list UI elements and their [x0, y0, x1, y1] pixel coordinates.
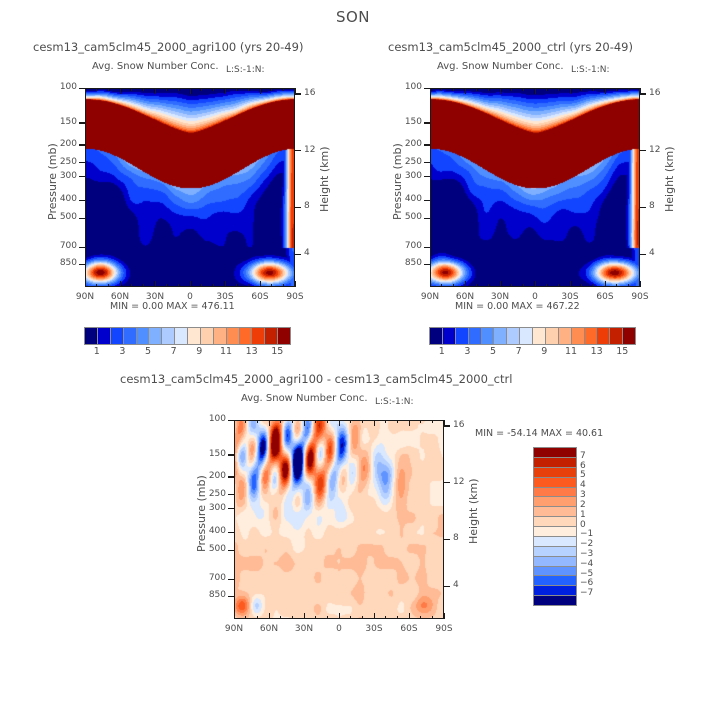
colorbar-cell [468, 328, 481, 344]
y-tick-label: 200 [398, 139, 422, 149]
y-tick-label: 150 [53, 117, 77, 127]
panel-diff-ylabel: Pressure (mb) [195, 475, 208, 552]
x-minor-tick-mark [236, 88, 237, 91]
colorbar-cell [534, 556, 576, 566]
y-tick-label: 700 [398, 241, 422, 251]
y-tick-mark [424, 218, 430, 219]
panel-diff-subtitle-right: L:S:-1:N: [375, 397, 414, 407]
x-minor-tick-mark [476, 284, 477, 287]
x-tick-label: 90S [626, 292, 654, 302]
x-tick-mark [500, 281, 501, 287]
y-tick-label: 100 [53, 82, 77, 92]
y-tick-mark [424, 122, 430, 123]
x-tick-mark [465, 281, 466, 287]
colorbar-cell [455, 328, 468, 344]
y2-tick-mark [295, 254, 301, 255]
panel-right-title: cesm13_cam5clm45_2000_ctrl (yrs 20-49) [388, 40, 633, 54]
colorbar-cell [534, 448, 576, 457]
y-tick-mark [424, 264, 430, 265]
colorbar-tick-label: 1 [437, 346, 447, 357]
colorbar-tick-label: 13 [246, 346, 256, 357]
y-tick-mark [228, 476, 234, 477]
y-tick-mark [79, 176, 85, 177]
x-tick-mark [260, 88, 261, 94]
x-minor-tick-mark [593, 284, 594, 287]
x-minor-tick-mark [108, 88, 109, 91]
x-minor-tick-mark [350, 420, 351, 423]
colorbar-tick-label: −3 [580, 549, 593, 559]
x-minor-tick-mark [257, 420, 258, 423]
x-tick-mark [409, 420, 410, 426]
colorbar-tick-label: 11 [220, 346, 230, 357]
colorbar-cell [532, 328, 545, 344]
colorbar-cell [136, 328, 149, 344]
panel-left-minmax: MIN = 0.00 MAX = 476.11 [110, 301, 235, 312]
panel-diff-title: cesm13_cam5clm45_2000_agri100 - cesm13_c… [120, 372, 512, 386]
x-tick-mark [295, 88, 296, 94]
x-tick-mark [570, 281, 571, 287]
x-minor-tick-mark [257, 616, 258, 619]
colorbar-cell [534, 526, 576, 536]
x-tick-label: 60N [255, 624, 283, 634]
x-tick-mark [85, 88, 86, 94]
x-tick-label: 30S [556, 292, 584, 302]
x-minor-tick-mark [397, 420, 398, 423]
x-minor-tick-mark [178, 88, 179, 91]
x-tick-label: 60S [591, 292, 619, 302]
colorbar-tick-label: 3 [580, 490, 586, 500]
colorbar-tick-label: −5 [580, 569, 593, 579]
x-tick-label: 60S [395, 624, 423, 634]
x-minor-tick-mark [523, 284, 524, 287]
x-tick-mark [155, 88, 156, 94]
x-tick-mark [120, 88, 121, 94]
y-tick-label: 150 [202, 449, 226, 459]
y-tick-label: 850 [398, 258, 422, 268]
colorbar-right[interactable] [429, 327, 636, 345]
x-minor-tick-mark [385, 420, 386, 423]
y-tick-mark [79, 162, 85, 163]
colorbar-cell [430, 328, 442, 344]
colorbar-tick-label: −6 [580, 578, 593, 588]
y-tick-mark [79, 264, 85, 265]
colorbar-tick-label: 5 [143, 346, 153, 357]
x-minor-tick-mark [350, 616, 351, 619]
y-tick-label: 200 [53, 139, 77, 149]
panel-diff-subtitle: Avg. Snow Number Conc. [241, 393, 368, 404]
x-minor-tick-mark [143, 88, 144, 91]
x-tick-mark [444, 420, 445, 426]
y-tick-mark [228, 454, 234, 455]
x-tick-mark [190, 88, 191, 94]
colorbar-cell [481, 328, 494, 344]
x-minor-tick-mark [432, 420, 433, 423]
panel-right-minmax: MIN = 0.00 MAX = 467.22 [455, 301, 580, 312]
panel-left-title: cesm13_cam5clm45_2000_agri100 (yrs 20-49… [33, 40, 303, 54]
y-tick-label: 700 [202, 573, 226, 583]
x-minor-tick-mark [248, 88, 249, 91]
panel-diff-minmax: MIN = -54.14 MAX = 40.61 [475, 428, 603, 439]
y2-tick-label: 16 [453, 420, 464, 430]
y-tick-label: 200 [202, 471, 226, 481]
x-minor-tick-mark [385, 616, 386, 619]
y2-tick-mark [295, 207, 301, 208]
colorbar-cell [519, 328, 532, 344]
x-minor-tick-mark [236, 284, 237, 287]
colorbar-cell [534, 575, 576, 585]
y2-tick-label: 4 [453, 580, 459, 590]
x-minor-tick-mark [488, 88, 489, 91]
x-minor-tick-mark [327, 420, 328, 423]
y-tick-label: 250 [202, 489, 226, 499]
y2-tick-label: 12 [649, 145, 660, 155]
panel-left-contour-canvas [86, 89, 295, 287]
colorbar-tick-label: 1 [580, 510, 586, 520]
x-minor-tick-mark [178, 284, 179, 287]
colorbar-tick-label: 3 [117, 346, 127, 357]
x-tick-label: 30N [486, 292, 514, 302]
x-tick-label: 60N [451, 292, 479, 302]
figure-suptitle: SON [0, 8, 706, 26]
colorbar-cell [534, 546, 576, 556]
x-tick-mark [374, 613, 375, 619]
y-tick-mark [79, 200, 85, 201]
colorbar-tick-label: 0 [580, 520, 586, 530]
y-tick-mark [79, 122, 85, 123]
colorbar-tick-label: 3 [462, 346, 472, 357]
x-tick-mark [260, 281, 261, 287]
y-tick-label: 250 [398, 157, 422, 167]
colorbar-cell [97, 328, 110, 344]
y-tick-mark [228, 596, 234, 597]
colorbar-tick-label: 13 [591, 346, 601, 357]
x-tick-mark [535, 88, 536, 94]
x-tick-mark [374, 420, 375, 426]
x-minor-tick-mark [616, 284, 617, 287]
colorbar-tick-label: 6 [580, 461, 586, 471]
panel-diff-contour-canvas [235, 421, 444, 619]
x-minor-tick-mark [546, 284, 547, 287]
x-tick-label: 0 [176, 292, 204, 302]
y-tick-label: 100 [202, 414, 226, 424]
x-minor-tick-mark [245, 420, 246, 423]
x-minor-tick-mark [201, 88, 202, 91]
x-minor-tick-mark [96, 284, 97, 287]
y-tick-mark [228, 579, 234, 580]
x-minor-tick-mark [362, 420, 363, 423]
x-minor-tick-mark [581, 88, 582, 91]
x-tick-mark [605, 281, 606, 287]
y-tick-mark [228, 494, 234, 495]
y-tick-mark [228, 532, 234, 533]
colorbar-tick-label: −7 [580, 588, 593, 598]
colorbar-tick-label: 9 [194, 346, 204, 357]
x-tick-mark [570, 88, 571, 94]
x-tick-label: 90N [416, 292, 444, 302]
x-tick-mark [85, 281, 86, 287]
colorbar-cell [148, 328, 161, 344]
x-tick-label: 90S [430, 624, 458, 634]
colorbar-tick-label: −1 [580, 529, 593, 539]
y-tick-mark [79, 218, 85, 219]
x-minor-tick-mark [245, 616, 246, 619]
x-minor-tick-mark [558, 284, 559, 287]
x-tick-mark [500, 88, 501, 94]
x-minor-tick-mark [546, 88, 547, 91]
x-minor-tick-mark [432, 616, 433, 619]
x-tick-mark [605, 88, 606, 94]
colorbar-tick-label: 9 [539, 346, 549, 357]
x-minor-tick-mark [453, 88, 454, 91]
x-tick-mark [225, 88, 226, 94]
colorbar-tick-label: 5 [580, 470, 586, 480]
x-tick-mark [430, 281, 431, 287]
colorbar-cell [534, 477, 576, 487]
colorbar-cell [213, 328, 226, 344]
x-minor-tick-mark [283, 88, 284, 91]
colorbar-cell [277, 328, 290, 344]
colorbar-cell [110, 328, 123, 344]
colorbar-tick-label: 5 [488, 346, 498, 357]
x-tick-mark [640, 281, 641, 287]
x-tick-label: 90S [281, 292, 309, 302]
y-tick-label: 500 [202, 544, 226, 554]
colorbar-cell [85, 328, 97, 344]
panel-right-plot [430, 88, 640, 287]
x-minor-tick-mark [488, 284, 489, 287]
x-minor-tick-mark [166, 284, 167, 287]
y2-tick-label: 8 [649, 201, 655, 211]
colorbar-cell [609, 328, 622, 344]
colorbar-diff[interactable] [533, 447, 577, 606]
y2-tick-mark [640, 150, 646, 151]
y-tick-mark [424, 200, 430, 201]
y-tick-label: 150 [398, 117, 422, 127]
y-tick-label: 500 [398, 212, 422, 222]
y2-tick-label: 8 [453, 533, 459, 543]
panel-right-ylabel: Pressure (mb) [391, 143, 404, 220]
colorbar-cell [534, 467, 576, 477]
x-tick-label: 30N [290, 624, 318, 634]
colorbar-cell [161, 328, 174, 344]
x-minor-tick-mark [441, 88, 442, 91]
y2-tick-mark [444, 482, 450, 483]
y2-tick-mark [295, 93, 301, 94]
panel-left-subtitle: Avg. Snow Number Conc. [92, 61, 219, 72]
x-tick-mark [339, 420, 340, 426]
x-minor-tick-mark [315, 616, 316, 619]
y2-tick-label: 4 [304, 248, 310, 258]
colorbar-cell [442, 328, 455, 344]
x-minor-tick-mark [283, 284, 284, 287]
y-tick-mark [79, 144, 85, 145]
x-minor-tick-mark [511, 284, 512, 287]
panel-diff-ylabel-right: Height (km) [467, 478, 480, 544]
y-tick-label: 300 [398, 171, 422, 181]
x-minor-tick-mark [213, 88, 214, 91]
colorbar-tick-label: 4 [580, 480, 586, 490]
y2-tick-label: 4 [649, 248, 655, 258]
x-tick-mark [269, 420, 270, 426]
colorbar-cell [584, 328, 597, 344]
panel-right-subtitle: Avg. Snow Number Conc. [437, 61, 564, 72]
x-tick-label: 0 [325, 624, 353, 634]
x-tick-mark [409, 613, 410, 619]
colorbar-tick-label: 15 [271, 346, 281, 357]
x-minor-tick-mark [213, 284, 214, 287]
x-tick-label: 0 [521, 292, 549, 302]
colorbar-tick-label: 1 [92, 346, 102, 357]
x-minor-tick-mark [397, 616, 398, 619]
x-minor-tick-mark [476, 88, 477, 91]
x-minor-tick-mark [271, 88, 272, 91]
x-minor-tick-mark [511, 88, 512, 91]
colorbar-tick-label: 7 [514, 346, 524, 357]
x-tick-mark [269, 613, 270, 619]
colorbar-cell [596, 328, 609, 344]
y-tick-mark [424, 247, 430, 248]
colorbar-cell [622, 328, 635, 344]
y-tick-label: 300 [202, 503, 226, 513]
panel-right-contour-canvas [431, 89, 640, 287]
colorbar-cell [558, 328, 571, 344]
y2-tick-label: 12 [453, 477, 464, 487]
y-tick-label: 400 [398, 194, 422, 204]
panel-right-subtitle-right: L:S:-1:N: [571, 65, 610, 75]
colorbar-tick-label: 15 [616, 346, 626, 357]
x-minor-tick-mark [453, 284, 454, 287]
colorbar-cell [174, 328, 187, 344]
x-tick-mark [225, 281, 226, 287]
x-tick-mark [535, 281, 536, 287]
colorbar-cell [200, 328, 213, 344]
x-minor-tick-mark [292, 616, 293, 619]
y-tick-mark [424, 144, 430, 145]
x-tick-label: 90N [220, 624, 248, 634]
x-minor-tick-mark [315, 420, 316, 423]
y-tick-label: 500 [53, 212, 77, 222]
colorbar-cell [493, 328, 506, 344]
colorbar-cell [123, 328, 136, 344]
y2-tick-mark [640, 254, 646, 255]
colorbar-cell [506, 328, 519, 344]
x-minor-tick-mark [581, 284, 582, 287]
y2-tick-mark [444, 539, 450, 540]
colorbar-cell [239, 328, 252, 344]
panel-right-ylabel-right: Height (km) [663, 146, 676, 212]
x-minor-tick-mark [201, 284, 202, 287]
x-tick-mark [304, 613, 305, 619]
x-tick-mark [234, 420, 235, 426]
colorbar-cell [226, 328, 239, 344]
y-tick-label: 100 [398, 82, 422, 92]
colorbar-tick-label: 7 [580, 451, 586, 461]
x-tick-mark [295, 281, 296, 287]
x-minor-tick-mark [523, 88, 524, 91]
y2-tick-label: 16 [304, 88, 315, 98]
y-tick-mark [424, 176, 430, 177]
x-tick-label: 90N [71, 292, 99, 302]
panel-left-plot [85, 88, 295, 287]
y2-tick-mark [640, 93, 646, 94]
y2-tick-mark [444, 586, 450, 587]
x-minor-tick-mark [327, 616, 328, 619]
y-tick-mark [424, 162, 430, 163]
colorbar-cell [534, 585, 576, 595]
colorbar-cell [571, 328, 584, 344]
x-tick-mark [304, 420, 305, 426]
colorbar-cell [187, 328, 200, 344]
y2-tick-label: 8 [304, 201, 310, 211]
colorbar-cell [534, 536, 576, 546]
colorbar-cell [534, 496, 576, 506]
y-tick-label: 400 [53, 194, 77, 204]
y-tick-label: 300 [53, 171, 77, 181]
x-minor-tick-mark [362, 616, 363, 619]
x-tick-label: 30S [360, 624, 388, 634]
y2-tick-mark [640, 207, 646, 208]
y-tick-label: 850 [202, 590, 226, 600]
x-tick-mark [444, 613, 445, 619]
x-minor-tick-mark [248, 284, 249, 287]
x-minor-tick-mark [108, 284, 109, 287]
x-tick-mark [155, 281, 156, 287]
y-tick-mark [228, 550, 234, 551]
x-tick-mark [120, 281, 121, 287]
colorbar-left[interactable] [84, 327, 291, 345]
y2-tick-label: 16 [649, 88, 660, 98]
y2-tick-mark [295, 150, 301, 151]
x-minor-tick-mark [271, 284, 272, 287]
y-tick-mark [79, 247, 85, 248]
x-minor-tick-mark [628, 284, 629, 287]
y-tick-label: 850 [53, 258, 77, 268]
x-tick-mark [234, 613, 235, 619]
y-tick-mark [228, 508, 234, 509]
colorbar-cell [534, 595, 576, 605]
colorbar-cell [534, 566, 576, 576]
x-tick-mark [190, 281, 191, 287]
colorbar-cell [534, 487, 576, 497]
x-minor-tick-mark [96, 88, 97, 91]
x-minor-tick-mark [292, 420, 293, 423]
panel-left-ylabel-right: Height (km) [318, 146, 331, 212]
x-minor-tick-mark [131, 88, 132, 91]
x-minor-tick-mark [593, 88, 594, 91]
y2-tick-mark [444, 425, 450, 426]
x-tick-label: 60S [246, 292, 274, 302]
colorbar-cell [264, 328, 277, 344]
colorbar-tick-label: −4 [580, 559, 593, 569]
x-tick-mark [640, 88, 641, 94]
panel-left-ylabel: Pressure (mb) [46, 143, 59, 220]
panel-diff-plot [234, 420, 444, 619]
x-minor-tick-mark [280, 616, 281, 619]
colorbar-tick-label: −2 [580, 539, 593, 549]
x-tick-mark [430, 88, 431, 94]
x-minor-tick-mark [280, 420, 281, 423]
y-tick-label: 700 [53, 241, 77, 251]
x-minor-tick-mark [616, 88, 617, 91]
panel-diff: cesm13_cam5clm45_2000_agri100 - cesm13_c… [100, 372, 600, 642]
colorbar-tick-label: 7 [169, 346, 179, 357]
y-tick-label: 400 [202, 526, 226, 536]
x-minor-tick-mark [558, 88, 559, 91]
y2-tick-label: 12 [304, 145, 315, 155]
colorbar-tick-label: 2 [580, 500, 586, 510]
x-minor-tick-mark [628, 88, 629, 91]
x-tick-label: 60N [106, 292, 134, 302]
